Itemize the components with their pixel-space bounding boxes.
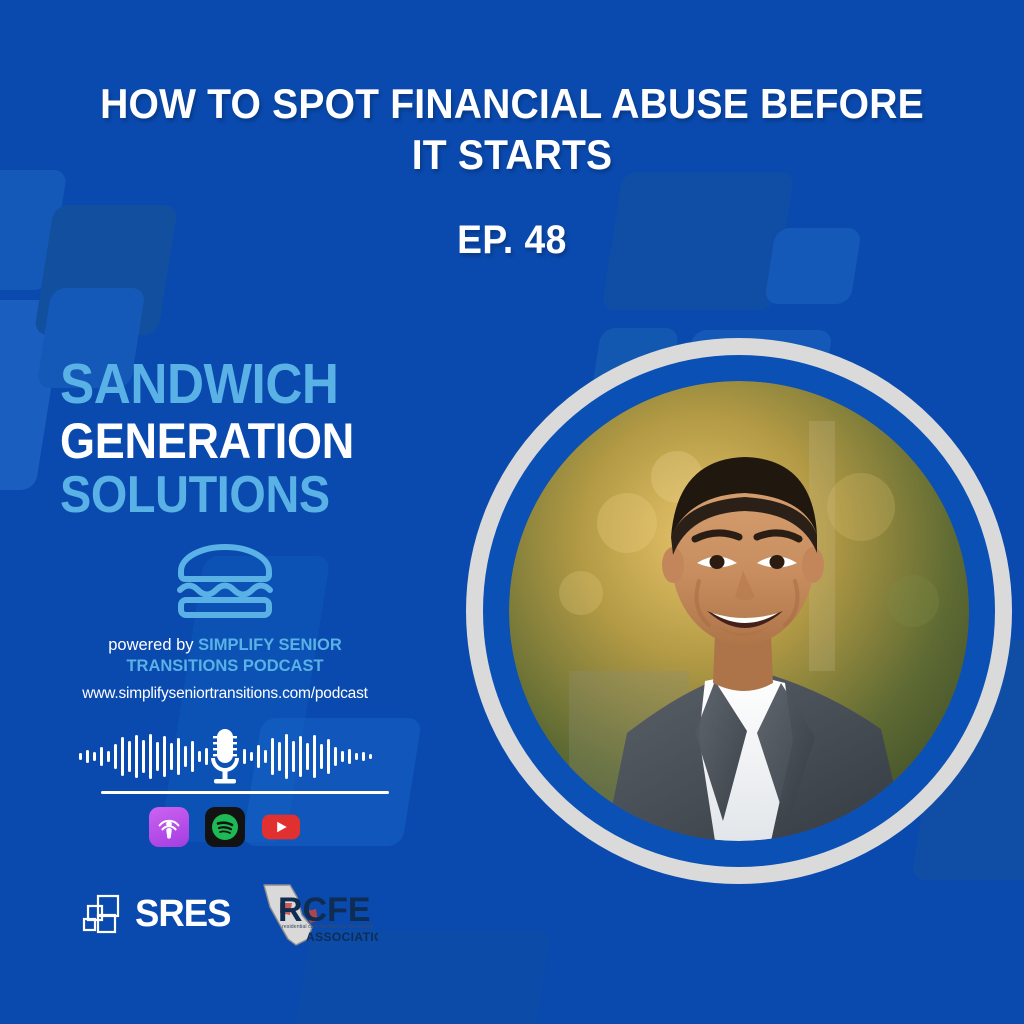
brand-line-generation: GENERATION [60, 418, 393, 465]
rcfe-badge: RCFE residential care facilities for the… [250, 881, 378, 949]
microphone-icon [211, 729, 239, 784]
sandwich-icon [171, 541, 279, 619]
page-title: HOW TO SPOT FINANCIAL ABUSE BEFORE IT ST… [94, 78, 931, 180]
brand-line-sandwich: SANDWICH [60, 358, 393, 412]
powered-by-line: powered by SIMPLIFY SENIOR TRANSITIONS P… [60, 635, 390, 675]
title-block: HOW TO SPOT FINANCIAL ABUSE BEFORE IT ST… [0, 78, 1024, 263]
platform-links [60, 807, 390, 847]
sandwich-icon-wrap [60, 541, 390, 619]
powered-by-prefix: powered by [108, 636, 198, 654]
sres-badge: SRES [82, 893, 232, 936]
guest-portrait [466, 338, 1012, 884]
sres-label: SRES [135, 893, 231, 936]
sres-squares-icon [82, 894, 124, 936]
website-url[interactable]: www.simplifyseniortransitions.com/podcas… [60, 685, 390, 703]
apple-podcasts-icon[interactable] [149, 807, 189, 847]
audio-waveform [75, 725, 375, 787]
divider-rule [101, 791, 389, 794]
episode-number: EP. 48 [36, 218, 988, 263]
certification-badges: SRES RCFE residential care facilities fo… [60, 881, 400, 949]
brand-line-solutions: SOLUTIONS [60, 471, 393, 520]
bg-shape [0, 300, 65, 490]
portrait-ring-outer [466, 338, 1012, 884]
rcfe-subtitle: ASSOCIATION [306, 930, 378, 944]
youtube-icon[interactable] [261, 807, 301, 847]
podcast-cover: HOW TO SPOT FINANCIAL ABUSE BEFORE IT ST… [0, 0, 1024, 1024]
spotify-icon[interactable] [205, 807, 245, 847]
brand-column: SANDWICH GENERATION SOLUTIONS powered by… [60, 358, 430, 949]
waveform-wrap [60, 725, 390, 787]
